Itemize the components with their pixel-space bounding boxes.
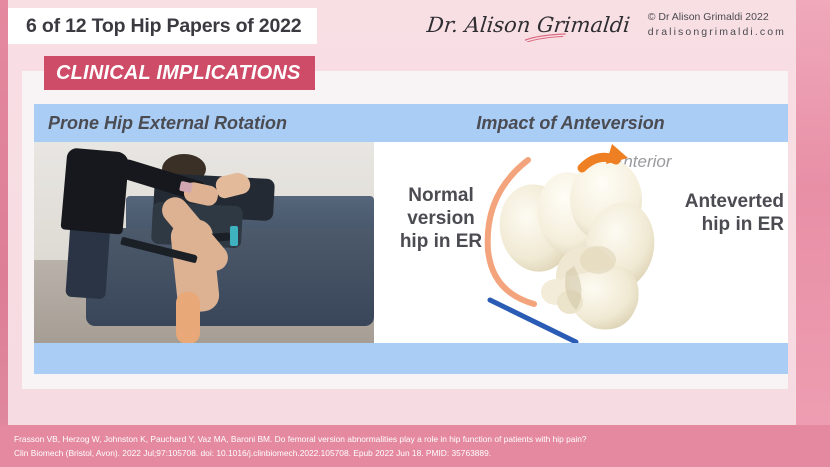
brand-block: Dr. Alison Grimaldi © Dr Alison Grimaldi… [427, 10, 786, 40]
brand-text: © Dr Alison Grimaldi 2022 dralisongrimal… [648, 10, 786, 40]
citation-line-2: Clin Biomech (Bristol, Avon). 2022 Jul;9… [14, 447, 830, 461]
anteversion-diagram: Normal version hip in ER Anteverted hip … [374, 142, 788, 343]
citation-bar: Frasson VB, Herzog W, Johnston K, Paucha… [0, 425, 830, 467]
panel-heading-right: Impact of Anteversion [379, 113, 788, 134]
panel-heading-left: Prone Hip External Rotation [34, 113, 379, 134]
copyright-line: © Dr Alison Grimaldi 2022 [648, 10, 786, 25]
photo-wristwatch [179, 181, 193, 193]
photo-clinician-torso [61, 147, 130, 234]
panel-headings-bar: Prone Hip External Rotation Impact of An… [34, 104, 788, 142]
photo-patient-resting-foot [176, 292, 200, 343]
website-line: dralisongrimaldi.com [648, 25, 786, 40]
prone-hip-external-rotation-photo [34, 142, 374, 343]
clinical-implications-banner: CLINICAL IMPLICATIONS [44, 56, 315, 90]
femur-bone-illustration [470, 142, 680, 343]
signature-logo: Dr. Alison Grimaldi [425, 13, 635, 37]
signature-flourish-icon [524, 33, 567, 42]
slide-root: 6 of 12 Top Hip Papers of 2022 Dr. Aliso… [0, 0, 830, 467]
panel-footer-bar [34, 343, 788, 374]
page-title: 6 of 12 Top Hip Papers of 2022 [8, 8, 317, 44]
photo-teal-marker [230, 226, 238, 246]
anterior-arrow-head-icon [606, 144, 628, 164]
left-border-stripe [0, 0, 8, 467]
panels-wrapper: Prone Hip External Rotation Impact of An… [34, 104, 788, 374]
citation-line-1: Frasson VB, Herzog W, Johnston K, Paucha… [14, 433, 830, 447]
right-border-stripe [796, 0, 830, 467]
